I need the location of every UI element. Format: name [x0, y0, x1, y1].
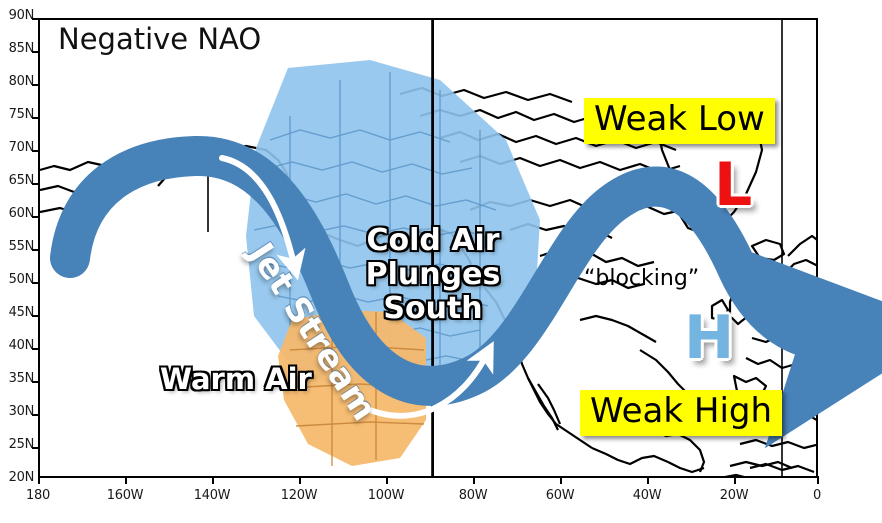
x-tickmark [299, 476, 301, 484]
y-tick-35n: 35N [0, 371, 34, 386]
x-tick-100w: 100W [356, 488, 416, 503]
x-tickmark [560, 476, 562, 484]
x-tick-80w: 80W [443, 488, 503, 503]
y-tick-90n: 90N [0, 8, 34, 23]
x-tick-140w: 140W [182, 488, 242, 503]
high-pressure-symbol: H [684, 308, 734, 368]
weak-low-label: Weak Low [584, 98, 775, 144]
y-tick-20n: 20N [0, 470, 34, 485]
x-tick-120w: 120W [269, 488, 329, 503]
x-tick-60w: 60W [530, 488, 590, 503]
x-tick-0: 0 [787, 488, 847, 503]
x-tickmark [473, 476, 475, 484]
cold-air-label-line2: Plunges [358, 258, 508, 292]
x-tickmark [647, 476, 649, 484]
y-tick-85n: 85N [0, 41, 34, 56]
x-tickmark [734, 476, 736, 484]
blocking-label: “blocking” [584, 266, 699, 291]
y-tick-75n: 75N [0, 107, 34, 122]
y-tick-25n: 25N [0, 437, 34, 452]
y-tick-30n: 30N [0, 404, 34, 419]
x-tick-160w: 160W [95, 488, 155, 503]
x-tickmark [125, 476, 127, 484]
y-tick-70n: 70N [0, 140, 34, 155]
y-tick-65n: 65N [0, 173, 34, 188]
y-tick-55n: 55N [0, 239, 34, 254]
warm-air-label: Warm Air [160, 362, 312, 396]
y-tick-50n: 50N [0, 272, 34, 287]
x-tickmark [386, 476, 388, 484]
x-tick-40w: 40W [617, 488, 677, 503]
page-title: Negative NAO [58, 22, 261, 56]
cold-air-label-line1: Cold Air [358, 224, 508, 258]
weak-high-label: Weak High [580, 390, 782, 436]
x-tickmark [38, 476, 40, 484]
cold-air-label-line3: South [358, 292, 508, 326]
y-tick-40n: 40N [0, 338, 34, 353]
y-tick-60n: 60N [0, 206, 34, 221]
y-tick-80n: 80N [0, 74, 34, 89]
y-tick-45n: 45N [0, 305, 34, 320]
x-tick-180: 180 [8, 488, 68, 503]
low-pressure-symbol: L [714, 155, 752, 215]
x-tickmark [817, 476, 819, 484]
weather-map-figure: 90N 85N 80N 75N 70N 65N 60N 55N 50N 45N … [0, 0, 882, 523]
x-tickmark [212, 476, 214, 484]
x-tick-20w: 20W [704, 488, 764, 503]
